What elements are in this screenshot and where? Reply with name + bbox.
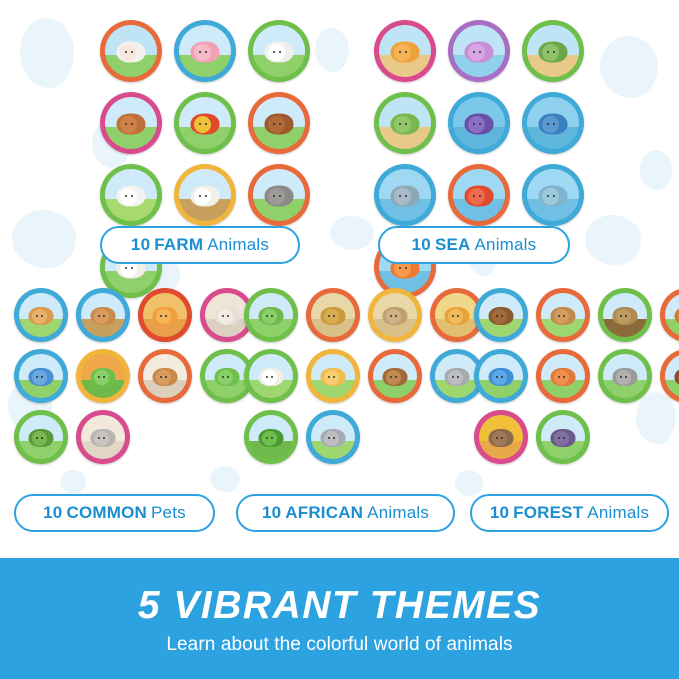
label-pets: 10 COMMON Pets xyxy=(14,494,215,532)
stamp-face xyxy=(105,25,157,77)
stamp-animal-eye-left xyxy=(125,51,127,53)
stamp-animal-head xyxy=(448,370,463,385)
stamp-bat xyxy=(536,410,590,464)
stamp-animal-eye-right xyxy=(457,376,459,378)
label-sea-count: 10 xyxy=(412,235,431,255)
stamp-horse xyxy=(100,92,162,154)
stamp-animal-head xyxy=(32,370,47,385)
stamp-animal-eye-left xyxy=(222,376,224,378)
stamp-face xyxy=(541,293,585,337)
stamp-face xyxy=(453,169,505,221)
stamp-animal-eye-left xyxy=(266,376,268,378)
stamp-animal-head xyxy=(94,370,109,385)
stamp-animal-head xyxy=(194,44,211,61)
stamp-crab xyxy=(448,164,510,226)
stamp-animal-head xyxy=(218,370,233,385)
footer-banner: 5 VIBRANT THEMES Learn about the colorfu… xyxy=(0,562,679,679)
stamp-face xyxy=(541,354,585,398)
stamp-fox xyxy=(536,349,590,403)
stamp-animal-head xyxy=(324,309,339,324)
stamp-animal-head xyxy=(262,370,277,385)
stamp-face xyxy=(435,293,479,337)
stamp-face xyxy=(143,293,187,337)
stamp-animal-head xyxy=(492,431,507,446)
stamp-mouse xyxy=(76,410,130,464)
stamp-animal-head xyxy=(156,309,171,324)
stamp-animal-eye-right xyxy=(405,267,407,269)
stamp-animal-eye-left xyxy=(390,315,392,317)
label-farm-kind: Animals xyxy=(207,235,269,255)
stamp-animal-head xyxy=(394,44,411,61)
stamp-animal-eye-right xyxy=(131,195,133,197)
stamp-animal-eye-right xyxy=(625,376,627,378)
footer-subtitle: Learn about the colorful world of animal… xyxy=(166,634,512,656)
stamp-goose xyxy=(100,164,162,226)
stamp-face xyxy=(479,354,523,398)
stamp-face xyxy=(81,293,125,337)
stamp-animal-eye-right xyxy=(131,51,133,53)
stamp-hamster xyxy=(76,288,130,342)
stamp-face xyxy=(527,97,579,149)
stamp-animal-eye-right xyxy=(501,437,503,439)
stamp-animal-head xyxy=(554,370,569,385)
stamp-animal-eye-right xyxy=(103,376,105,378)
stamp-face xyxy=(179,97,231,149)
stamp-animal-head xyxy=(120,116,137,133)
stamp-animal-eye-right xyxy=(227,376,229,378)
stamp-animal-head xyxy=(268,188,285,205)
stamp-animal-eye-left xyxy=(390,376,392,378)
stamp-animal-eye-left xyxy=(222,315,224,317)
stamp-animal-eye-left xyxy=(496,437,498,439)
stamp-animal-head xyxy=(386,370,401,385)
stamp-animal-eye-right xyxy=(479,123,481,125)
stamp-animal-head xyxy=(156,370,171,385)
stamp-animal-eye-right xyxy=(333,437,335,439)
group-pets xyxy=(14,288,254,464)
stamp-animal-eye-right xyxy=(405,195,407,197)
stamp-parrot-african xyxy=(244,410,298,464)
stamp-animal-eye-left xyxy=(125,195,127,197)
stamp-face xyxy=(81,415,125,459)
stamp-animal-eye-right xyxy=(553,51,555,53)
stamp-animal-head xyxy=(324,431,339,446)
label-forest-count: 10 xyxy=(490,503,509,523)
stamp-face xyxy=(205,293,249,337)
stamp-jellyfish xyxy=(448,20,510,82)
stamp-face xyxy=(105,169,157,221)
stamp-animal-eye-right xyxy=(103,437,105,439)
stamp-animal-eye-left xyxy=(620,315,622,317)
stamp-shark xyxy=(374,164,436,226)
stamp-hyena xyxy=(368,288,422,342)
stamp-animal-eye-right xyxy=(205,195,207,197)
stamp-animal-eye-right xyxy=(563,437,565,439)
stamp-donkey xyxy=(248,164,310,226)
stamp-animal-eye-right xyxy=(479,195,481,197)
stamp-animal-eye-right xyxy=(279,195,281,197)
stamp-animal-eye-right xyxy=(41,315,43,317)
stamp-animal-head xyxy=(386,309,401,324)
stamp-animal-eye-right xyxy=(271,437,273,439)
stamp-crocodile xyxy=(374,92,436,154)
stamp-animal-eye-right xyxy=(103,315,105,317)
stamp-zebra xyxy=(244,349,298,403)
stamp-face xyxy=(435,354,479,398)
stamp-animal-eye-right xyxy=(501,315,503,317)
stamp-face xyxy=(541,415,585,459)
stamp-animal-head xyxy=(120,44,137,61)
stamp-animal-eye-left xyxy=(328,315,330,317)
stamp-animal-eye-left xyxy=(328,437,330,439)
stamp-animal-eye-left xyxy=(273,51,275,53)
stamp-animal-eye-right xyxy=(405,123,407,125)
stamp-animal-eye-left xyxy=(328,376,330,378)
stamp-face xyxy=(143,354,187,398)
stamp-hen-nest xyxy=(174,164,236,226)
stamp-animal-eye-right xyxy=(625,315,627,317)
stamp-animal-eye-right xyxy=(227,315,229,317)
stamp-bull xyxy=(248,92,310,154)
stamp-animal-eye-left xyxy=(273,123,275,125)
stamp-animal-head xyxy=(542,188,559,205)
stamp-animal-eye-left xyxy=(399,123,401,125)
stamp-animal-head xyxy=(492,370,507,385)
stamp-animal-eye-right xyxy=(279,123,281,125)
stamp-animal-head xyxy=(542,44,559,61)
stamp-animal-eye-left xyxy=(266,437,268,439)
stamp-animal-head xyxy=(394,188,411,205)
stamp-crocodile-african xyxy=(244,288,298,342)
stamp-squirrel xyxy=(660,288,679,342)
stamp-animal-eye-left xyxy=(125,267,127,269)
stamp-animal-eye-left xyxy=(558,376,560,378)
stamp-sheep xyxy=(100,20,162,82)
stamp-animal-head xyxy=(324,370,339,385)
stamp-animal-head xyxy=(492,309,507,324)
stamp-animal-eye-left xyxy=(496,376,498,378)
stamp-animal-eye-right xyxy=(563,315,565,317)
label-forest-category: FOREST xyxy=(513,503,583,523)
stamp-animal-eye-left xyxy=(199,123,201,125)
stamp-animal-eye-left xyxy=(266,315,268,317)
stamp-animal-eye-left xyxy=(36,437,38,439)
stamp-animal-eye-left xyxy=(399,51,401,53)
stamp-animal-head xyxy=(94,309,109,324)
stamp-animal-eye-right xyxy=(41,376,43,378)
product-infographic: 10 FARM Animals 10 SEA Animals 10 COMMON… xyxy=(0,0,679,679)
stamp-face xyxy=(453,25,505,77)
stamp-animal-eye-left xyxy=(199,195,201,197)
stamp-face xyxy=(479,415,523,459)
stamp-animal-eye-right xyxy=(563,376,565,378)
stamp-raccoon xyxy=(598,349,652,403)
stamp-animal-head xyxy=(262,431,277,446)
stamp-animal-eye-left xyxy=(98,315,100,317)
stamp-face xyxy=(19,293,63,337)
group-african xyxy=(244,288,484,464)
label-pets-count: 10 xyxy=(43,503,62,523)
stamp-owl xyxy=(598,288,652,342)
stamp-animal-eye-right xyxy=(333,315,335,317)
stamp-animal-eye-right xyxy=(553,195,555,197)
stamp-animal-eye-left xyxy=(558,315,560,317)
stamp-face xyxy=(253,25,305,77)
label-african-count: 10 xyxy=(262,503,281,523)
stamp-snake xyxy=(306,288,360,342)
stamp-animal-eye-right xyxy=(501,376,503,378)
stamp-animal-eye-left xyxy=(620,376,622,378)
stamp-animal-eye-left xyxy=(98,376,100,378)
stamp-dolphin xyxy=(522,164,584,226)
stamp-face xyxy=(311,415,355,459)
stamp-face xyxy=(665,293,679,337)
stamp-animal-head xyxy=(448,309,463,324)
stamp-face xyxy=(249,293,293,337)
stamp-animal-head xyxy=(32,431,47,446)
label-pets-category: COMMON xyxy=(66,503,147,523)
stamp-grid-pets xyxy=(14,288,254,464)
stamp-face xyxy=(311,354,355,398)
stamp-face xyxy=(179,169,231,221)
stamp-face xyxy=(105,97,157,149)
stamp-animal-head xyxy=(194,116,211,133)
stamp-animal-head xyxy=(554,309,569,324)
stamp-animal-eye-left xyxy=(452,315,454,317)
stamp-moose xyxy=(660,349,679,403)
label-farm-count: 10 xyxy=(131,235,150,255)
stamp-animal-eye-right xyxy=(205,51,207,53)
stamp-animal-eye-left xyxy=(125,123,127,125)
stamp-animal-eye-right xyxy=(165,376,167,378)
stamp-guinea-pig xyxy=(138,349,192,403)
stamp-animal-eye-left xyxy=(36,376,38,378)
stamp-animal-eye-right xyxy=(271,315,273,317)
stamp-animal-eye-left xyxy=(160,315,162,317)
stamp-animal-head xyxy=(120,188,137,205)
stamp-animal-eye-right xyxy=(405,51,407,53)
stamp-animal-eye-right xyxy=(165,315,167,317)
stamp-turtle-pet xyxy=(14,410,68,464)
stamp-giraffe xyxy=(306,349,360,403)
stamp-pig xyxy=(174,20,236,82)
stamp-whale xyxy=(522,92,584,154)
stamp-animal-eye-right xyxy=(553,123,555,125)
stamp-face xyxy=(253,97,305,149)
stamp-animal-eye-left xyxy=(496,315,498,317)
stamp-turtle xyxy=(522,20,584,82)
stamp-animal-eye-left xyxy=(547,123,549,125)
stamp-animal-head xyxy=(616,309,631,324)
stamp-animal-head xyxy=(268,116,285,133)
label-forest-kind: Animals xyxy=(587,503,649,523)
label-forest: 10 FOREST Animals xyxy=(470,494,669,532)
stamp-animal-eye-right xyxy=(41,437,43,439)
stamp-animal-eye-right xyxy=(279,51,281,53)
stamp-animal-eye-left xyxy=(558,437,560,439)
stamp-animal-head xyxy=(32,309,47,324)
stamp-face xyxy=(253,169,305,221)
stamp-animal-head xyxy=(194,188,211,205)
stamp-grid-african xyxy=(244,288,484,464)
label-sea-category: SEA xyxy=(435,235,471,255)
stamp-deer xyxy=(536,288,590,342)
stamp-face xyxy=(527,25,579,77)
stamp-face xyxy=(603,354,647,398)
stamp-chameleon xyxy=(76,349,130,403)
stamp-animal-eye-left xyxy=(473,51,475,53)
stamp-monkey xyxy=(368,349,422,403)
stamp-animal-head xyxy=(394,116,411,133)
stamp-octopus xyxy=(448,92,510,154)
stamp-face xyxy=(19,415,63,459)
stamp-animal-eye-left xyxy=(473,123,475,125)
stamp-face xyxy=(373,293,417,337)
stamp-animal-eye-right xyxy=(333,376,335,378)
label-african-category: AFRICAN xyxy=(285,503,363,523)
stamp-seahorse xyxy=(374,20,436,82)
stamp-animal-eye-left xyxy=(452,376,454,378)
stamp-animal-head xyxy=(468,188,485,205)
stamp-animal-eye-right xyxy=(131,123,133,125)
stamp-rhino xyxy=(306,410,360,464)
footer-title: 5 VIBRANT THEMES xyxy=(138,586,541,625)
stamp-animal-head xyxy=(554,431,569,446)
stamp-face xyxy=(249,354,293,398)
stamp-face xyxy=(379,25,431,77)
group-forest xyxy=(474,288,679,464)
stamp-face xyxy=(19,354,63,398)
stamp-face xyxy=(479,293,523,337)
stamp-animal-eye-left xyxy=(473,195,475,197)
stamp-animal-eye-left xyxy=(547,51,549,53)
stamp-face xyxy=(603,293,647,337)
stamp-animal-eye-right xyxy=(205,123,207,125)
stamp-rooster xyxy=(174,92,236,154)
stamp-face xyxy=(249,415,293,459)
stamp-animal-eye-right xyxy=(457,315,459,317)
stamp-animal-eye-left xyxy=(98,437,100,439)
stamp-dog xyxy=(14,288,68,342)
label-sea-kind: Animals xyxy=(475,235,537,255)
stamp-face xyxy=(527,169,579,221)
stamp-animal-eye-right xyxy=(395,315,397,317)
label-african-kind: Animals xyxy=(367,503,429,523)
stamp-parrot xyxy=(14,349,68,403)
stamp-animal-eye-left xyxy=(199,51,201,53)
stamp-animal-eye-right xyxy=(271,376,273,378)
stamp-animal-eye-left xyxy=(160,376,162,378)
stamp-cow xyxy=(248,20,310,82)
stamp-face xyxy=(205,354,249,398)
stamp-animal-head xyxy=(94,431,109,446)
stamp-animal-head xyxy=(542,116,559,133)
label-farm: 10 FARM Animals xyxy=(100,226,300,264)
stamp-face xyxy=(81,354,125,398)
stamp-face xyxy=(311,293,355,337)
stamp-animal-head xyxy=(616,370,631,385)
stamp-animal-eye-left xyxy=(273,195,275,197)
label-african: 10 AFRICAN Animals xyxy=(236,494,455,532)
stamp-animal-head xyxy=(468,44,485,61)
stamp-animal-head xyxy=(262,309,277,324)
stamp-grid-forest xyxy=(474,288,679,464)
stamp-animal-eye-right xyxy=(131,267,133,269)
label-pets-kind: Pets xyxy=(151,503,186,523)
stamp-animal-eye-left xyxy=(399,195,401,197)
stamp-bear xyxy=(474,288,528,342)
stamp-bluebird xyxy=(474,349,528,403)
stamp-animal-head xyxy=(218,309,233,324)
stamp-animal-head xyxy=(468,116,485,133)
stamp-face xyxy=(379,169,431,221)
stamp-face xyxy=(453,97,505,149)
label-farm-category: FARM xyxy=(154,235,203,255)
stamp-animal-eye-left xyxy=(547,195,549,197)
stamp-face xyxy=(179,25,231,77)
stamp-animal-eye-right xyxy=(479,51,481,53)
stamp-hedgehog xyxy=(474,410,528,464)
stamp-animal-eye-left xyxy=(36,315,38,317)
label-sea: 10 SEA Animals xyxy=(378,226,570,264)
stamp-face xyxy=(379,97,431,149)
stamp-face xyxy=(373,354,417,398)
stamp-face xyxy=(665,354,679,398)
stamp-animal-eye-right xyxy=(395,376,397,378)
stamp-animal-head xyxy=(268,44,285,61)
stamp-animal-eye-left xyxy=(399,267,401,269)
stamp-cat xyxy=(138,288,192,342)
